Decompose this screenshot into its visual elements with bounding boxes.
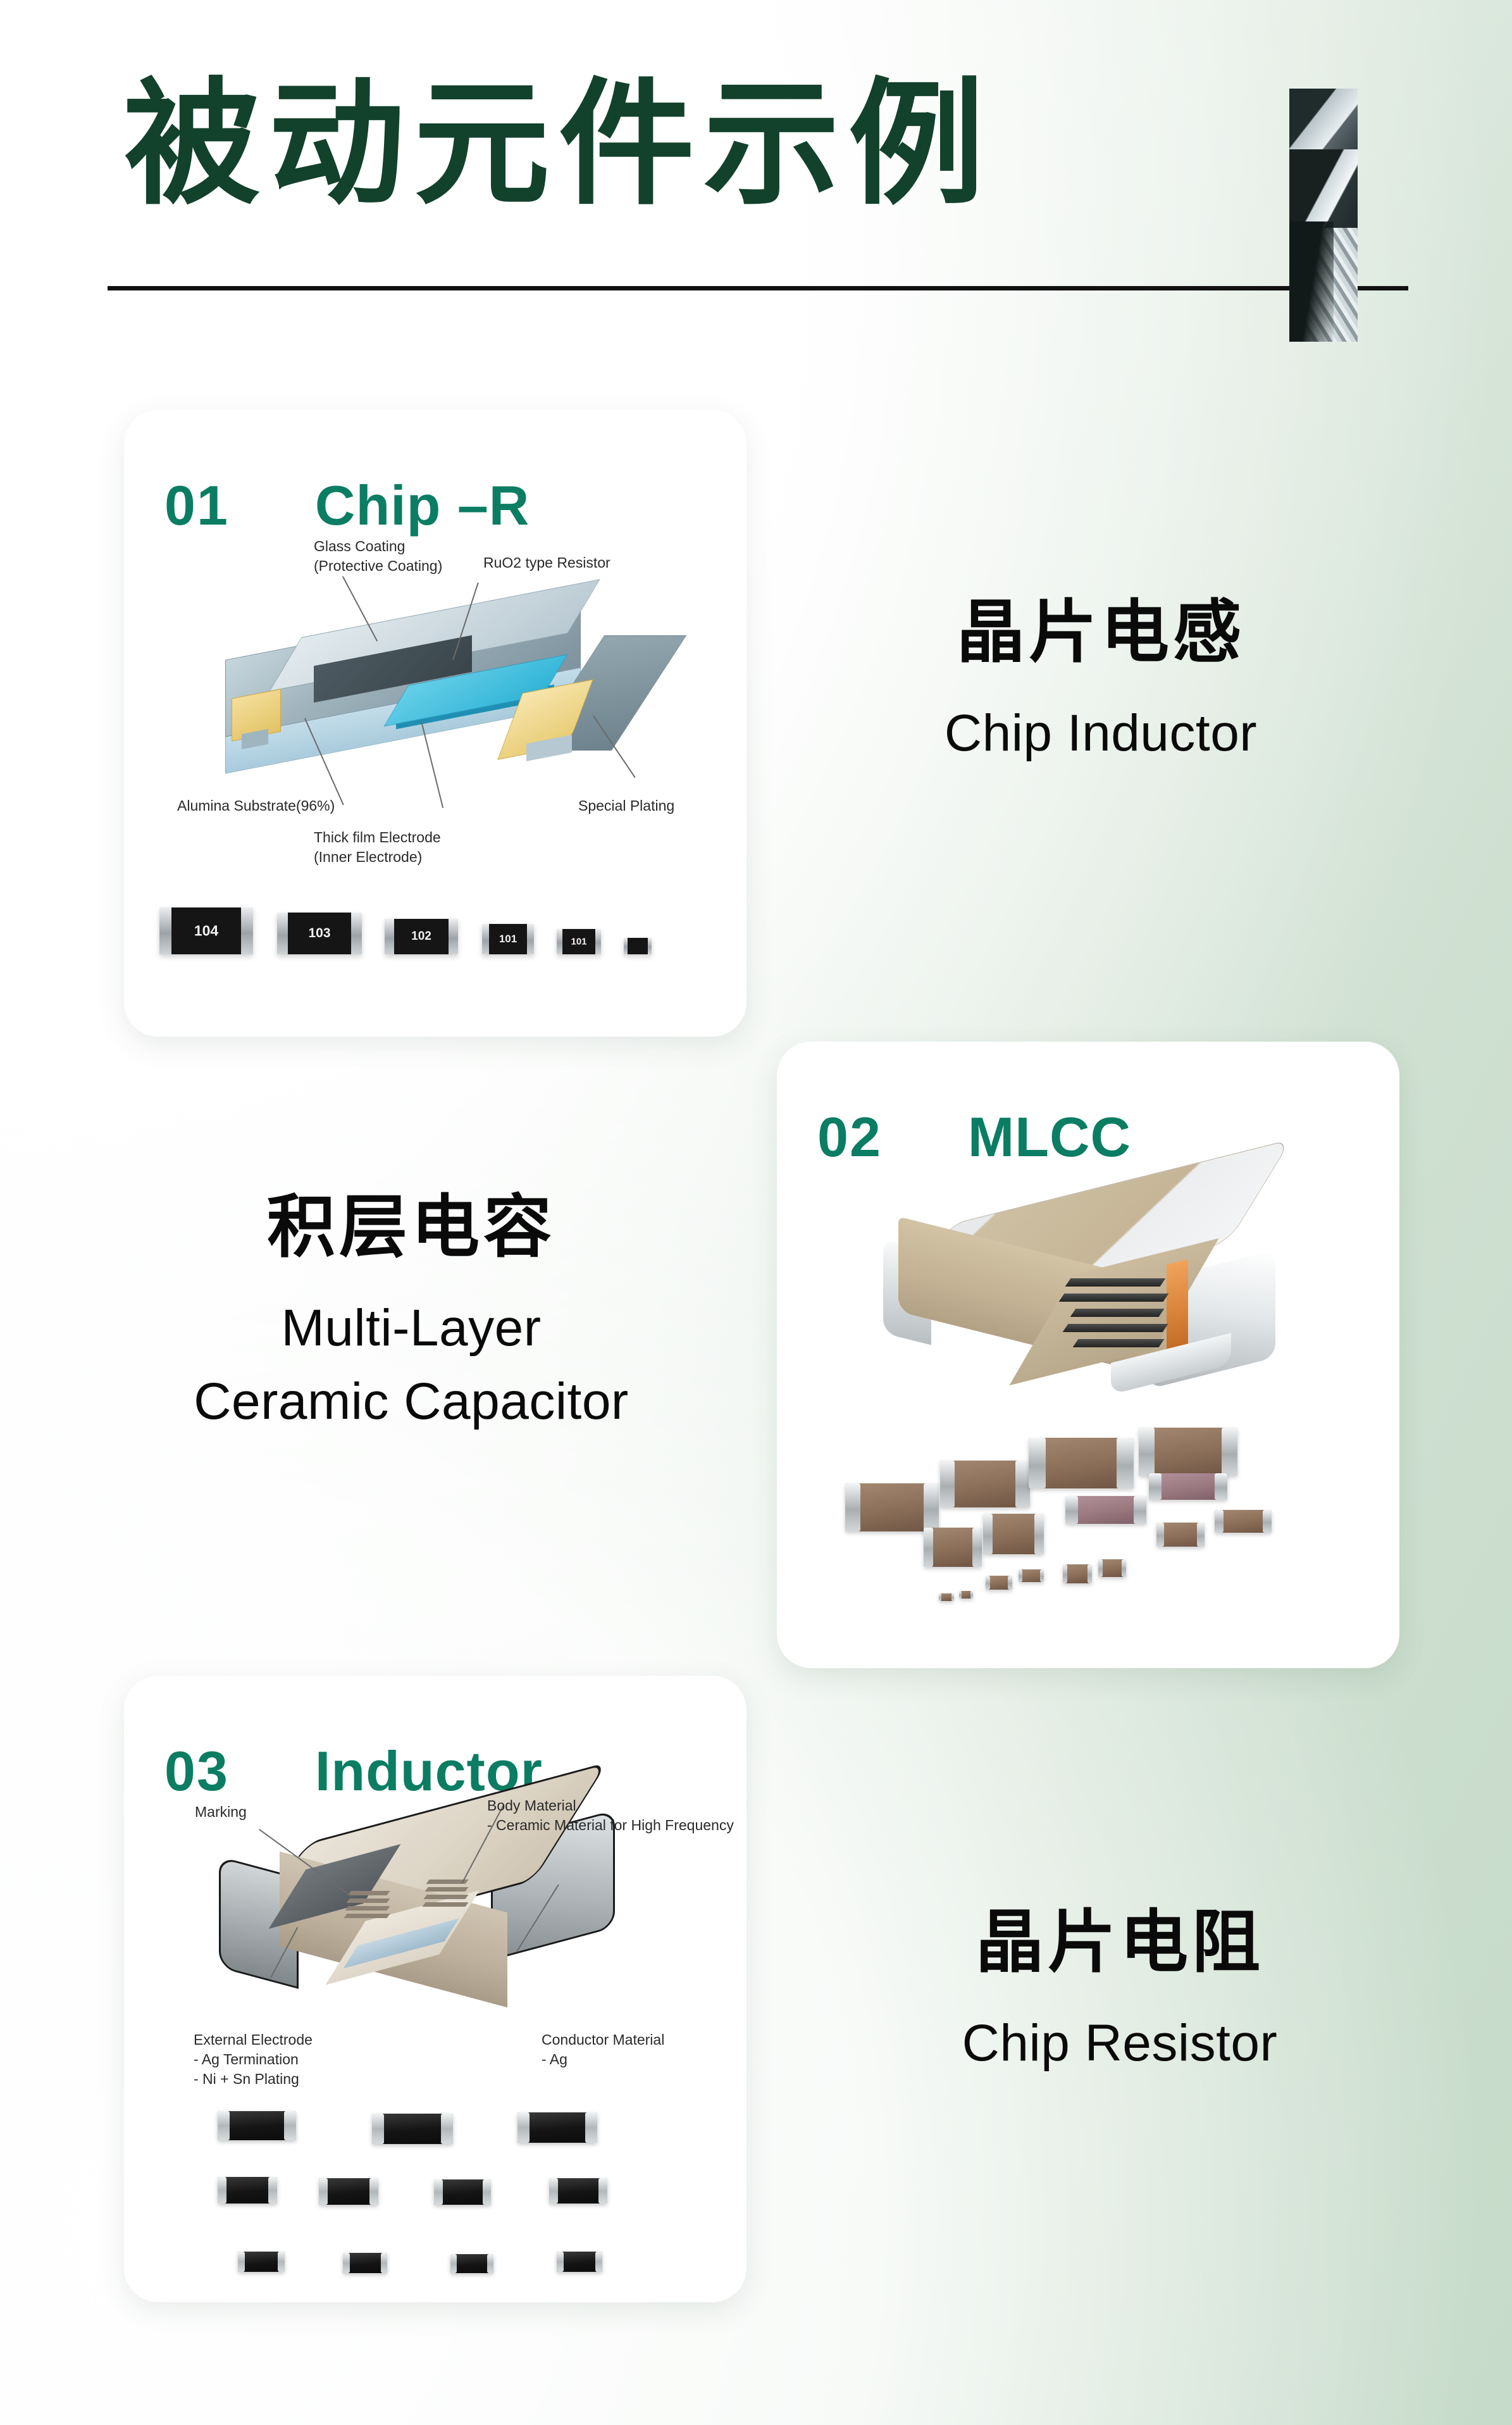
- side-label-en: Chip Inductor: [816, 699, 1385, 768]
- label-line: - Ceramic Material for High Frequency: [487, 1817, 734, 1833]
- chip-resistor-sample: [624, 938, 652, 954]
- mlcc-sample: [959, 1591, 973, 1599]
- page-title: 被动元件示例: [124, 76, 993, 212]
- mlcc-sample: [1029, 1438, 1134, 1488]
- card-header: 02 MLCC: [817, 1105, 1131, 1169]
- label-line: (Inner Electrode): [314, 849, 422, 865]
- card-mlcc[interactable]: 02 MLCC: [777, 1042, 1399, 1668]
- diagram-label-ruo2-resistor: RuO2 type Resistor: [483, 553, 610, 573]
- diagram-label-conductor-material: Conductor Material - Ag: [542, 2030, 664, 2069]
- label-line: Body Material: [487, 1797, 576, 1814]
- chip-resistor-sample: 101: [557, 929, 601, 954]
- mlcc-sample: [1019, 1569, 1044, 1582]
- inductor-sample: [517, 2112, 597, 2143]
- inductor-sample: [434, 2179, 491, 2205]
- mlcc-sample: [1149, 1473, 1227, 1500]
- inductor-sample: [372, 2114, 453, 2144]
- diagram-label-marking: Marking: [195, 1802, 247, 1822]
- mlcc-sample: [1156, 1523, 1205, 1547]
- label-line: - Ni + Sn Plating: [194, 2071, 299, 2087]
- mlcc-sample: [1098, 1559, 1126, 1577]
- chip-resistor-sample: 103: [277, 913, 362, 954]
- side-label-en-line1: Multi-Layer: [127, 1294, 696, 1362]
- mlcc-sample: [940, 1461, 1030, 1507]
- mlcc-cutaway-diagram: [777, 1162, 1399, 1459]
- side-label-en: Chip Resistor: [841, 2009, 1398, 2078]
- label-line: Glass Coating: [314, 538, 405, 554]
- inductor-sample: [218, 2111, 296, 2140]
- card-inductor[interactable]: 03 Inductor: [124, 1676, 747, 2302]
- inductor-cutaway-diagram: Marking Body Material - Ceramic Material…: [124, 1790, 747, 2087]
- mlcc-sample: [983, 1514, 1044, 1554]
- inductor-sample: [557, 2252, 602, 2272]
- side-label-mlcc: 积层电容 Multi-Layer Ceramic Capacitor: [127, 1190, 696, 1436]
- mlcc-sample: [924, 1528, 982, 1567]
- diagram-label-external-electrode: External Electrode - Ag Termination - Ni…: [194, 2030, 313, 2088]
- diagram-label-thick-film-electrode: Thick film Electrode (Inner Electrode): [314, 828, 441, 867]
- poster-header: 被动元件示例: [0, 0, 1512, 329]
- card-title: Chip –R: [315, 473, 530, 538]
- inductor-photo-group: [124, 2093, 747, 2277]
- chip-code: 101: [482, 933, 534, 945]
- label-line: - Ag: [542, 2051, 567, 2067]
- mlcc-sample: [986, 1576, 1012, 1590]
- label-line: - Ag Termination: [194, 2051, 299, 2067]
- chip-code: 102: [385, 930, 458, 944]
- side-label-chip-inductor: 晶片电感 Chip Inductor: [816, 595, 1385, 768]
- inductor-sample: [238, 2252, 285, 2272]
- inductor-sample: [319, 2178, 378, 2205]
- card-number: 01: [164, 473, 229, 538]
- card-title: MLCC: [968, 1105, 1131, 1169]
- mlcc-sample: [939, 1593, 954, 1601]
- inductor-sample: [549, 2178, 607, 2204]
- inductor-sample: [343, 2253, 387, 2273]
- mlcc-sample: [1215, 1510, 1272, 1533]
- diagram-label-glass-coating: Glass Coating (Protective Coating): [314, 537, 442, 576]
- side-label-cn: 晶片电阻: [841, 1905, 1398, 1980]
- decorative-photo-strip: [1289, 89, 1358, 342]
- mlcc-sample: [1063, 1564, 1092, 1583]
- chip-code: 103: [277, 926, 362, 941]
- inductor-sample: [218, 2177, 277, 2204]
- label-line: External Electrode: [194, 2031, 313, 2048]
- inductor-sample: [450, 2254, 493, 2273]
- chip-resistor-photo-row: 104 103 102 101 101: [124, 878, 747, 954]
- label-line: Conductor Material: [542, 2031, 664, 2048]
- chip-resistor-sample: 104: [159, 907, 253, 954]
- card-number: 02: [817, 1105, 882, 1169]
- chip-resistor-cutaway-diagram: Glass Coating (Protective Coating) RuO2 …: [124, 530, 747, 859]
- mlcc-sample: [1065, 1496, 1146, 1524]
- side-label-cn: 积层电容: [127, 1190, 696, 1265]
- header-divider: [108, 286, 1408, 290]
- chip-resistor-sample: 101: [482, 924, 534, 954]
- chip-code: 101: [557, 937, 601, 947]
- chip-code: 104: [159, 923, 253, 940]
- diagram-label-alumina-substrate: Alumina Substrate(96%): [177, 796, 335, 816]
- diagram-label-body-material: Body Material - Ceramic Material for Hig…: [487, 1796, 734, 1835]
- diagram-label-special-plating: Special Plating: [578, 796, 674, 816]
- label-line: Thick film Electrode: [314, 829, 441, 845]
- card-chip-resistor[interactable]: 01 Chip –R Glass Coating (Protective Co: [124, 410, 747, 1037]
- mlcc-sample: [1139, 1428, 1237, 1476]
- poster-root: 被动元件示例 01 Chip –R: [0, 0, 1512, 2425]
- mlcc-sample: [845, 1483, 939, 1531]
- mlcc-photo-group: [777, 1421, 1399, 1630]
- side-label-en-line2: Ceramic Capacitor: [127, 1368, 696, 1436]
- chip-resistor-sample: 102: [385, 919, 458, 954]
- side-label-cn: 晶片电感: [816, 595, 1385, 670]
- side-label-chip-resistor: 晶片电阻 Chip Resistor: [841, 1905, 1398, 2078]
- card-header: 01 Chip –R: [164, 473, 530, 538]
- label-line: (Protective Coating): [314, 558, 442, 574]
